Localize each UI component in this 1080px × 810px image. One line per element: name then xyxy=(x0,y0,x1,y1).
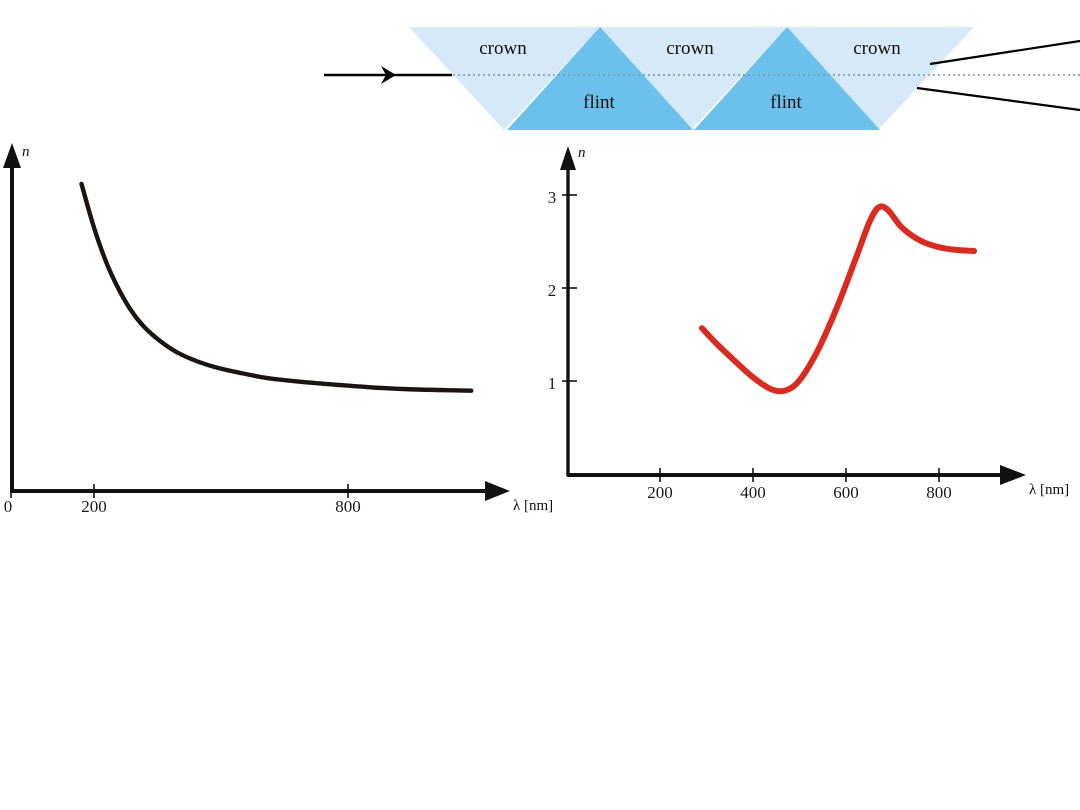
right-chart-y-axis-arrowhead xyxy=(560,146,576,170)
right-chart-y-tick-label-1: 1 xyxy=(548,374,557,393)
left-chart-y-axis-label: n xyxy=(22,144,30,160)
exit-ray-lower xyxy=(917,88,1080,110)
right-chart-x-tick-label-200: 200 xyxy=(647,483,673,502)
right-chart-x-tick-label-600: 600 xyxy=(833,483,859,502)
left-chart-x-tick-label-800: 800 xyxy=(335,497,361,516)
left-chart-data-curve xyxy=(81,184,471,391)
left-chart-y-axis-arrowhead xyxy=(3,143,21,168)
right-chart-x-axis-arrowhead xyxy=(1000,465,1026,485)
prism-label-flint-2: flint xyxy=(770,92,802,113)
right-chart-y-tick-label-2: 2 xyxy=(548,281,557,300)
prism-label-crown-1: crown xyxy=(479,38,527,59)
left-chart-x-tick-label-200: 200 xyxy=(81,497,107,516)
right-chart-x-tick-label-800: 800 xyxy=(926,483,952,502)
prism-diagram: crown flint crown flint crown xyxy=(324,27,1080,130)
right-chart-y-axis-label: n xyxy=(578,145,586,161)
chart-anomalous-dispersion: n λ [nm] 1 2 3 200 400 600 800 xyxy=(548,145,1069,502)
right-chart-x-tick-label-400: 400 xyxy=(740,483,766,502)
right-chart-y-tick-label-3: 3 xyxy=(548,188,557,207)
prism-label-flint-1: flint xyxy=(583,92,615,113)
right-chart-x-axis-label: λ [nm] xyxy=(1029,482,1069,498)
prism-label-crown-3: crown xyxy=(853,38,901,59)
figure-canvas: crown flint crown flint crown n λ [nm] 0… xyxy=(0,0,1080,810)
left-chart-x-tick-label-0: 0 xyxy=(4,497,13,516)
right-chart-data-curve xyxy=(702,206,974,391)
figure-svg: crown flint crown flint crown n λ [nm] 0… xyxy=(0,0,1080,810)
left-chart-x-axis-label: λ [nm] xyxy=(513,498,553,514)
left-chart-x-axis-arrowhead xyxy=(485,481,510,501)
prism-label-crown-2: crown xyxy=(666,38,714,59)
chart-normal-dispersion: n λ [nm] 0 200 800 xyxy=(3,143,553,516)
